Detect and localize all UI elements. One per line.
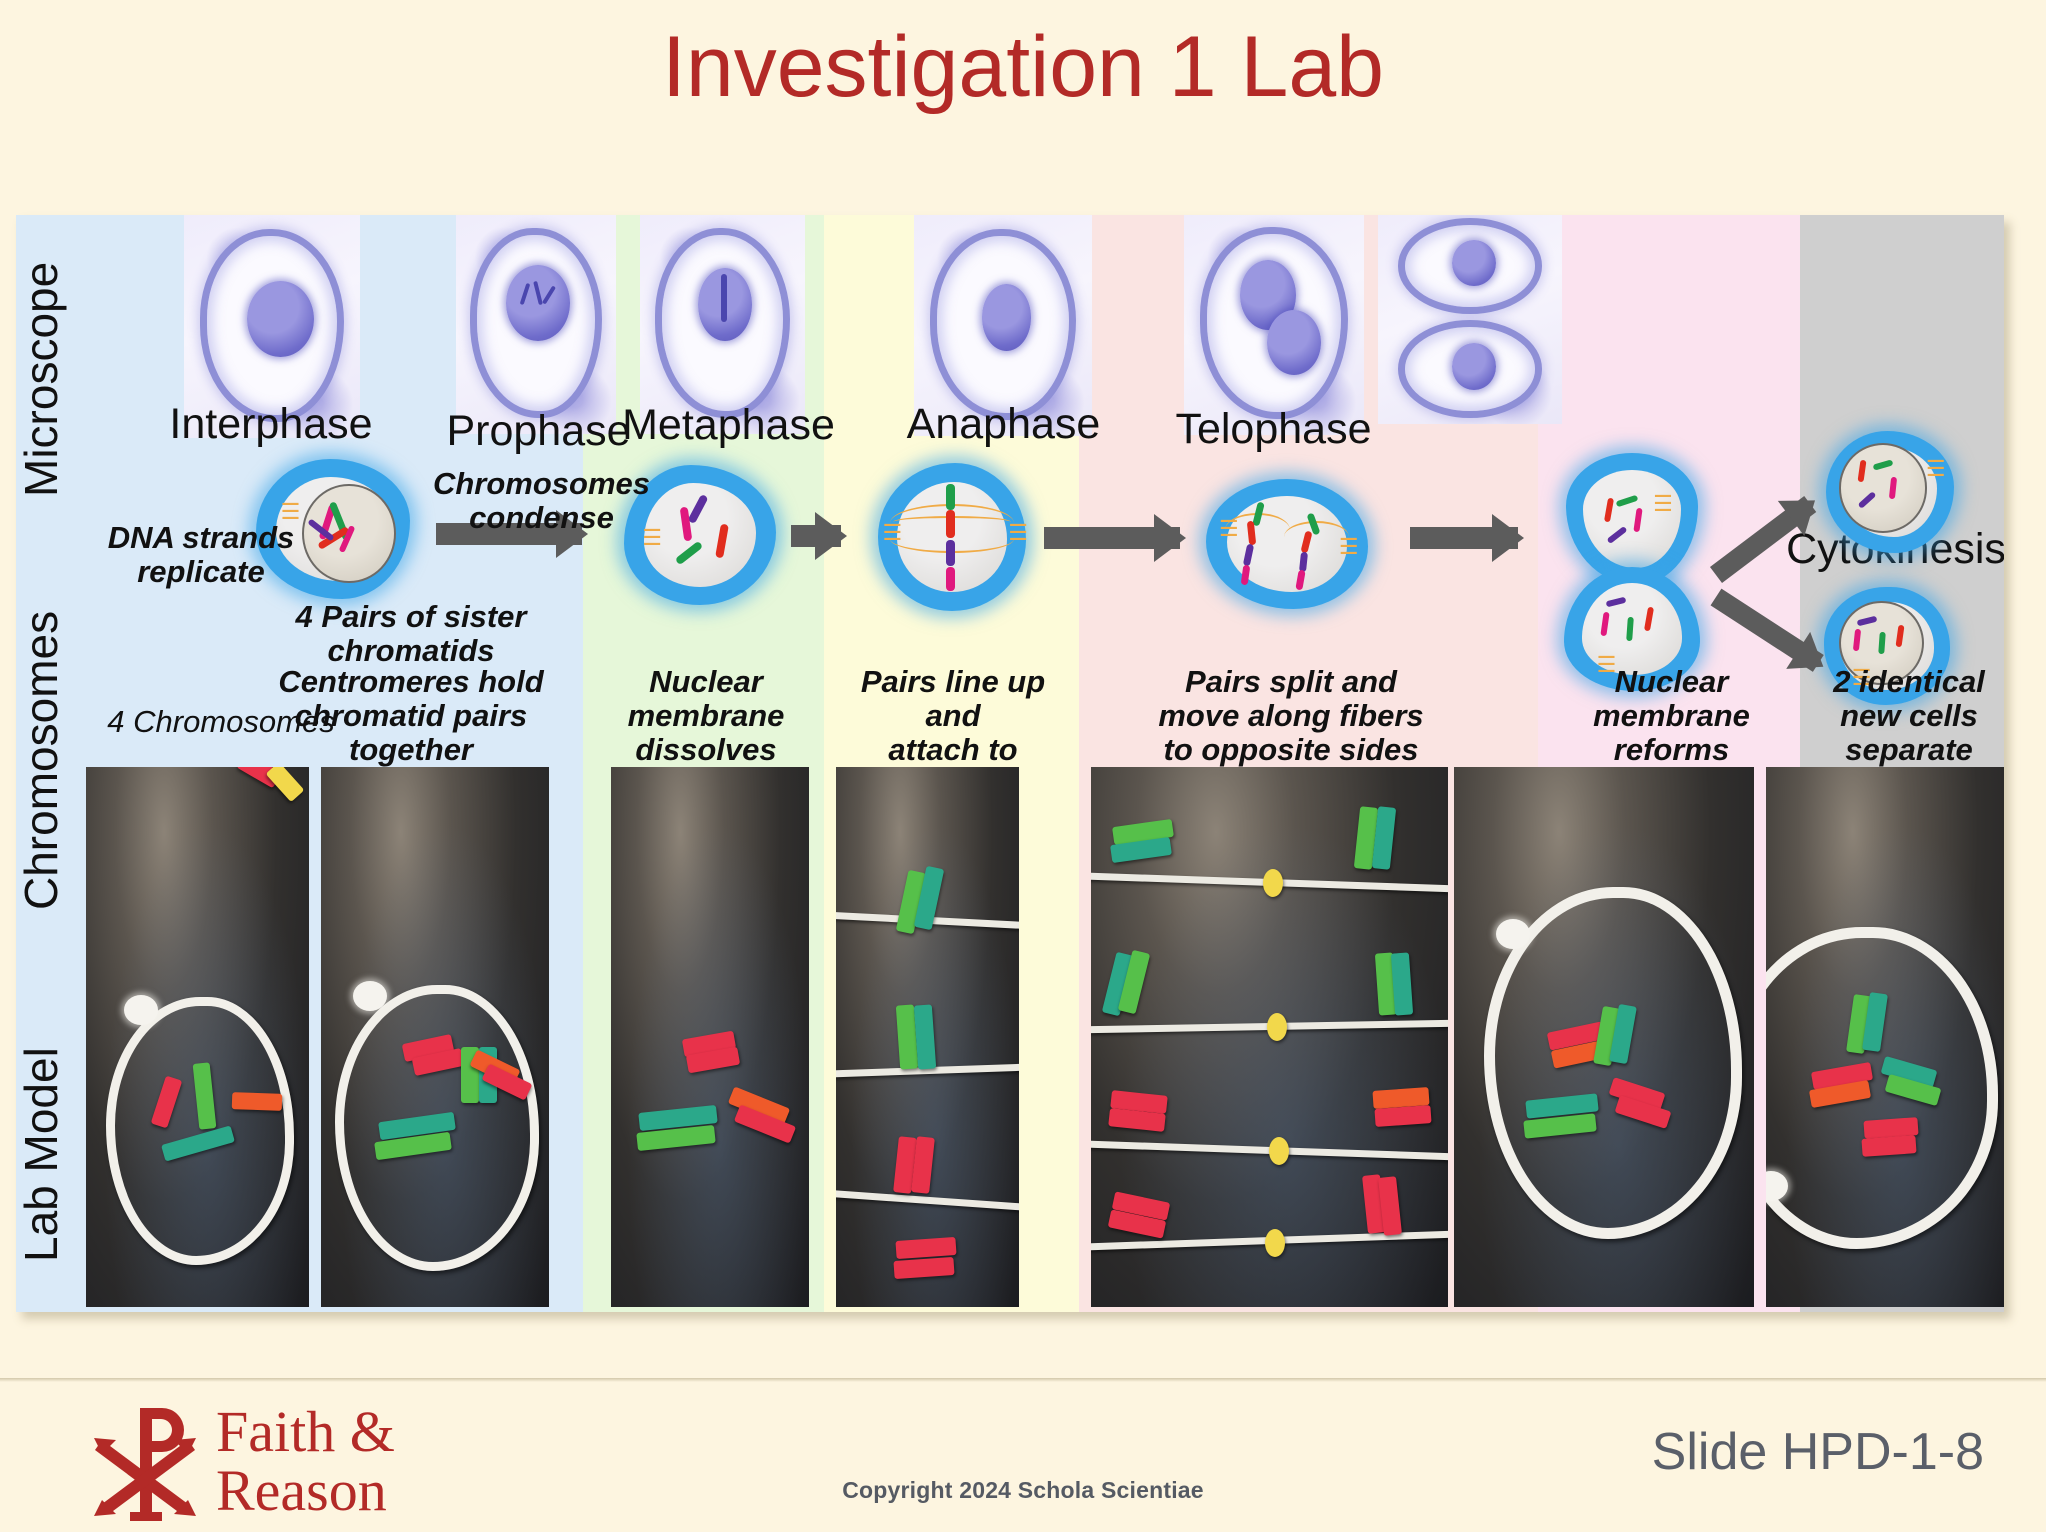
lab-photo-prophase bbox=[611, 767, 809, 1307]
annotation-chromosomes-condense: Chromosomes condense bbox=[414, 467, 669, 535]
chi-rho-icon bbox=[88, 1400, 206, 1524]
centriole-icon: ☰ bbox=[1926, 458, 1946, 480]
brand-logo: Faith & Reason bbox=[88, 1396, 508, 1524]
annotation-nuclear-dissolves: Nuclear membrane dissolves bbox=[611, 665, 801, 767]
lab-photo-metaphase bbox=[836, 767, 1019, 1307]
cell-diagram-telophase-top: ☰ bbox=[1566, 453, 1698, 585]
phase-title-interphase: Interphase bbox=[136, 400, 406, 449]
phase-title-anaphase: Anaphase bbox=[866, 400, 1141, 449]
centriole-icon: ☰ bbox=[1008, 522, 1028, 544]
centromere-bead bbox=[1269, 1137, 1289, 1165]
slide-number: Slide HPD-1-8 bbox=[1652, 1422, 1984, 1482]
annotation-pairs-split: Pairs split and move along fibers to opp… bbox=[1136, 665, 1446, 767]
centriole-icon: ☰ bbox=[1653, 493, 1673, 515]
arrow-metaphase-to-anaphase bbox=[1044, 527, 1180, 549]
centromere-bead bbox=[1263, 869, 1283, 897]
arrow-anaphase-to-telophase bbox=[1410, 527, 1518, 549]
footer: Faith & Reason Copyright 2024 Schola Sci… bbox=[0, 1382, 2046, 1532]
mitosis-comparison-panel: Microscope Chromosomes Lab Model bbox=[16, 215, 2004, 1312]
cell-diagram-cytokinesis-top: ☰ bbox=[1826, 431, 1954, 553]
annotation-nuclear-reforms: Nuclear membrane reforms bbox=[1564, 665, 1779, 767]
centriole-icon: ☰ bbox=[882, 522, 902, 544]
row-label-microscope: Microscope bbox=[16, 229, 88, 529]
centriole-icon: ☰ bbox=[1219, 518, 1239, 540]
centromere-bead bbox=[1267, 1013, 1287, 1041]
lab-photo-cytokinesis bbox=[1766, 767, 2004, 1307]
lab-photo-anaphase bbox=[1091, 767, 1448, 1307]
arrow-prophase-to-metaphase bbox=[791, 525, 841, 547]
annotation-centromeres-hold: Centromeres hold chromatid pairs togethe… bbox=[266, 665, 556, 767]
row-label-chromosomes: Chromosomes bbox=[16, 545, 88, 975]
annotation-two-new-cells: 2 identical new cells separate bbox=[1814, 665, 2004, 767]
lab-photo-telophase bbox=[1454, 767, 1754, 1307]
cell-diagram-anaphase: ☰ ☰ bbox=[1206, 479, 1368, 609]
microscope-photo-prophase bbox=[456, 215, 616, 434]
row-label-lab-model: Lab Model bbox=[16, 1005, 88, 1305]
phase-title-metaphase: Metaphase bbox=[596, 401, 861, 450]
page-title: Investigation 1 Lab bbox=[0, 22, 2046, 112]
cell-diagram-metaphase: ☰ ☰ bbox=[878, 463, 1026, 611]
microscope-photo-telophase bbox=[1184, 215, 1364, 435]
annotation-dna-replicate: DNA strands replicate bbox=[76, 521, 326, 589]
lab-photo-interphase-2 bbox=[321, 767, 549, 1307]
lab-photo-interphase-1 bbox=[86, 767, 309, 1307]
centromere-bead bbox=[1265, 1229, 1285, 1257]
annotation-sister-chromatids: 4 Pairs of sister chromatids bbox=[266, 600, 556, 668]
centriole-icon: ☰ bbox=[1339, 536, 1359, 558]
phase-title-telophase: Telophase bbox=[1136, 405, 1411, 454]
logo-line-1: Faith & bbox=[216, 1402, 395, 1461]
microscope-photo-cytokinesis bbox=[1378, 215, 1562, 424]
